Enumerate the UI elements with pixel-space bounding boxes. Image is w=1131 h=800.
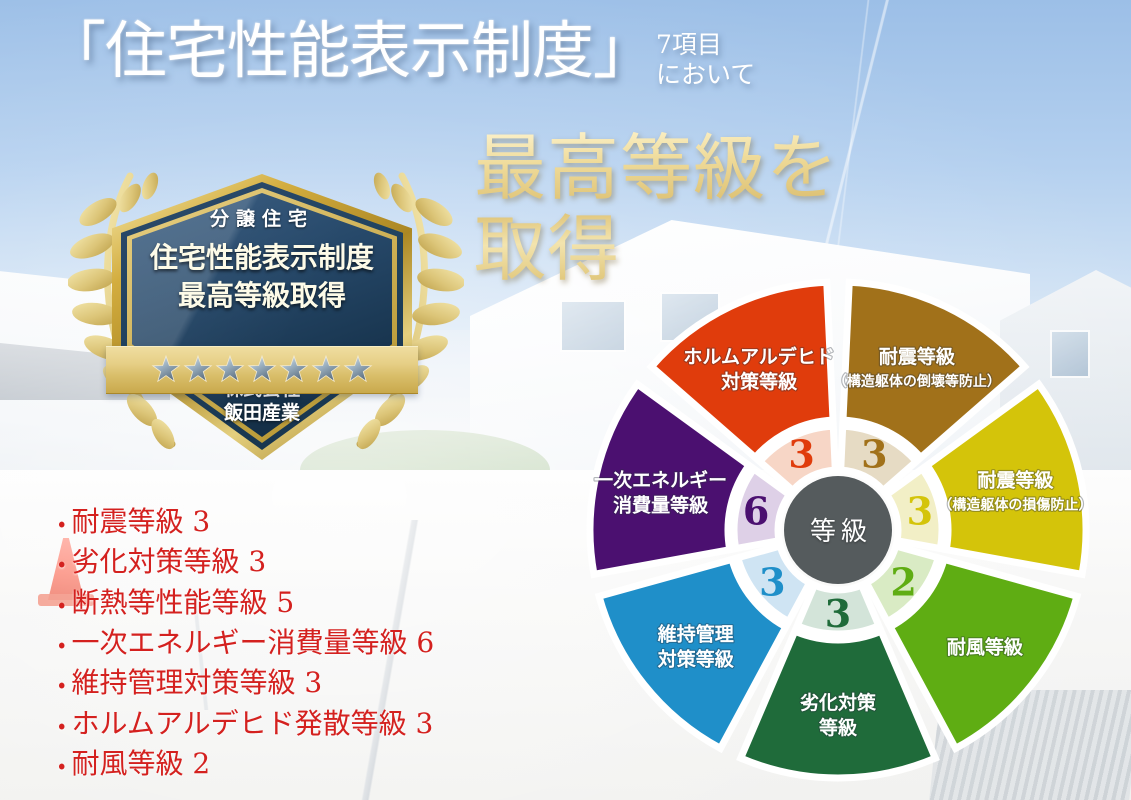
performance-grade-wheel: 3耐震等級（構造躯体の倒壊等防止）3耐震等級（構造躯体の損傷防止）2耐風等級3劣… (576, 274, 1128, 794)
wheel-segment-label: 耐震等級 (977, 469, 1054, 492)
headline-main: 「住宅性能表示制度」 (44, 18, 654, 84)
wheel-segment-grade: 2 (890, 559, 916, 604)
star-icon (247, 355, 277, 385)
wheel-segment-label: 一次エネルギー (594, 469, 727, 492)
spec-list-item: ・断熱等性能等級 5 (58, 583, 434, 623)
wheel-segment-sublabel: （構造躯体の損傷防止） (938, 497, 1092, 513)
spec-list-item-label: 耐風等級 2 (71, 747, 210, 780)
badge-star-ribbon (106, 346, 418, 394)
spec-list-item: ・劣化対策等級 3 (58, 542, 434, 582)
star-icon (151, 355, 181, 385)
gold-headline: 最高等級を 取得 (474, 128, 839, 289)
page-title: 「住宅性能表示制度」 7項目 において (44, 18, 755, 89)
gold-headline-line2: 取得 (474, 209, 839, 290)
wheel-hub: 等級 (784, 476, 892, 584)
headline-sub: 7項目 において (656, 30, 755, 89)
certification-emblem: 分譲住宅 住宅性能表示制度 最高等級取得 株式会社 飯田産業 (66, 160, 466, 472)
wheel-segment-sublabel: 対策等級 (657, 648, 735, 671)
spec-list-item: ・耐風等級 2 (58, 744, 434, 784)
headline-sub-line1: 7項目 (656, 30, 755, 60)
spec-list-item-label: 断熱等性能等級 5 (71, 586, 294, 619)
spec-list-item-label: 維持管理対策等級 3 (71, 666, 322, 699)
wheel-segment-grade: 3 (861, 431, 887, 476)
poster-canvas: 「住宅性能表示制度」 7項目 において 最高等級を 取得 (0, 0, 1131, 800)
wheel-segment-grade: 3 (907, 488, 933, 533)
wheel-segment-label: 維持管理 (658, 623, 734, 646)
spec-list-item-label: ホルムアルデヒド発散等級 3 (71, 707, 433, 740)
wheel-segment-label: ホルムアルデヒド (683, 345, 834, 368)
bullet-dot-icon: ・ (58, 512, 65, 537)
wheel-segment-sublabel: 消費量等級 (613, 494, 709, 517)
badge-title-line2: 最高等級取得 (112, 274, 412, 314)
spec-list-item-label: 一次エネルギー消費量等級 6 (71, 626, 434, 659)
bullet-dot-icon: ・ (58, 754, 65, 779)
bullet-dot-icon: ・ (58, 714, 65, 739)
shield-badge: 分譲住宅 住宅性能表示制度 最高等級取得 株式会社 飯田産業 (112, 174, 412, 460)
wheel-segment-sublabel: （構造躯体の倒壊等防止） (833, 373, 1001, 389)
spec-list-item: ・耐震等級 3 (58, 502, 434, 542)
star-icon (279, 355, 309, 385)
wheel-segment-grade: 3 (759, 559, 785, 604)
spec-list: ・耐震等級 3・劣化対策等級 3・断熱等性能等級 5・一次エネルギー消費量等級 … (58, 502, 434, 784)
wheel-segment-label: 劣化対策 (800, 691, 877, 714)
wheel-segment-label: 耐震等級 (879, 345, 956, 368)
bullet-dot-icon: ・ (58, 673, 65, 698)
headline-sub-line2: において (656, 60, 755, 90)
spec-list-item: ・ホルムアルデヒド発散等級 3 (58, 704, 434, 744)
bullet-dot-icon: ・ (58, 552, 65, 577)
wheel-segment-grade: 3 (825, 591, 851, 636)
spec-list-item-label: 劣化対策等級 3 (71, 545, 266, 578)
badge-title-line1: 住宅性能表示制度 (112, 236, 412, 276)
spec-list-item-label: 耐震等級 3 (71, 505, 210, 538)
star-icon (183, 355, 213, 385)
wheel-segment-sublabel: 対策等級 (720, 370, 798, 393)
gold-headline-line1: 最高等級を (474, 126, 839, 210)
spec-list-item: ・維持管理対策等級 3 (58, 663, 434, 703)
badge-top-label: 分譲住宅 (112, 204, 412, 231)
star-icon (343, 355, 373, 385)
bullet-dot-icon: ・ (58, 633, 65, 658)
spec-list-item: ・一次エネルギー消費量等級 6 (58, 623, 434, 663)
wheel-segment-sublabel: 等級 (818, 716, 858, 739)
wheel-segment-grade: 3 (788, 431, 814, 476)
star-icon (215, 355, 245, 385)
wheel-segment-label: 耐風等級 (947, 635, 1024, 658)
wheel-hub-label: 等級 (810, 516, 872, 546)
badge-company-line2: 飯田産業 (112, 402, 412, 426)
star-icon (311, 355, 341, 385)
bullet-dot-icon: ・ (58, 593, 65, 618)
wheel-segment-grade: 6 (743, 488, 769, 533)
